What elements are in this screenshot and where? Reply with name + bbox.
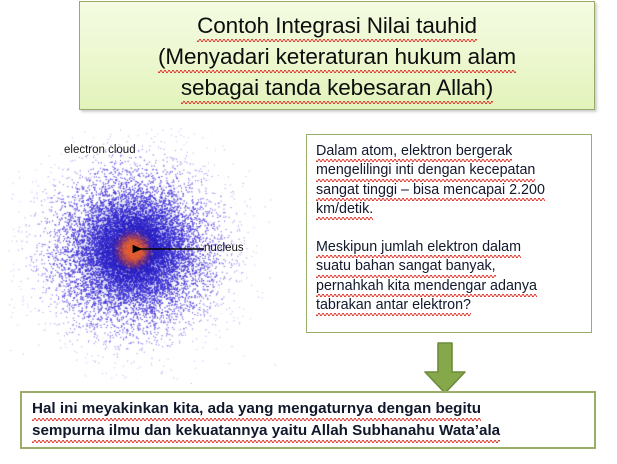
explanation-paragraph-2: Meskipun jumlah elektron dalam suatu bah… [316, 238, 583, 315]
explanation-p2-line-4: tabrakan antar elektron? [316, 296, 471, 315]
atom-diagram: electron cloud nucleus [8, 126, 276, 384]
conclusion-line-2-text: sempurna ilmu dan kekuatannya yaitu Alla… [32, 420, 500, 442]
conclusion-line-1-text: Hal ini meyakinkan kita, ada yang mengat… [32, 398, 481, 420]
nucleus-label: nucleus [204, 242, 244, 254]
title-line-3: sebagai tanda kebesaran Allah) [181, 72, 493, 103]
explanation-p1-line-4: km/detik. [316, 200, 373, 219]
conclusion-banner: Hal ini meyakinkan kita, ada yang mengat… [20, 391, 596, 449]
nucleus-pointer-arrow [128, 239, 206, 259]
explanation-p2-line-2: suatu bahan sangat banyak, [316, 257, 496, 276]
conclusion-line-1: Hal ini meyakinkan kita, ada yang mengat… [32, 398, 594, 420]
conclusion-line-2: sempurna ilmu dan kekuatannya yaitu Alla… [32, 420, 594, 442]
explanation-p2-line-3: pernahkah kita mendengar adanya [316, 277, 537, 296]
title-line-2: (Menyadari keteraturan hukum alam [158, 41, 516, 72]
down-arrow-icon [421, 341, 469, 395]
explanation-paragraph-1: Dalam atom, elektron bergerak mengelilin… [316, 142, 583, 219]
explanation-p1-line-1: Dalam atom, elektron bergerak [316, 142, 512, 161]
explanation-p1-line-3: sangat tinggi – bisa mencapai 2.200 [316, 181, 545, 200]
slide-title-box: Contoh Integrasi Nilai tauhid (Menyadari… [79, 1, 595, 110]
title-line-1-text: Contoh Integrasi Nilai tauhid [197, 10, 477, 41]
electron-cloud-label: electron cloud [64, 144, 136, 156]
title-line-3-text: sebagai tanda kebesaran Allah) [181, 72, 493, 103]
explanation-p2-line-1: Meskipun jumlah elektron dalam [316, 238, 521, 257]
explanation-p1-line-2: mengelilingi inti dengan kecepatan [316, 161, 535, 180]
title-line-2-text: (Menyadari keteraturan hukum alam [158, 41, 516, 72]
explanation-text-box: Dalam atom, elektron bergerak mengelilin… [306, 134, 592, 333]
title-line-1: Contoh Integrasi Nilai tauhid [197, 10, 477, 41]
